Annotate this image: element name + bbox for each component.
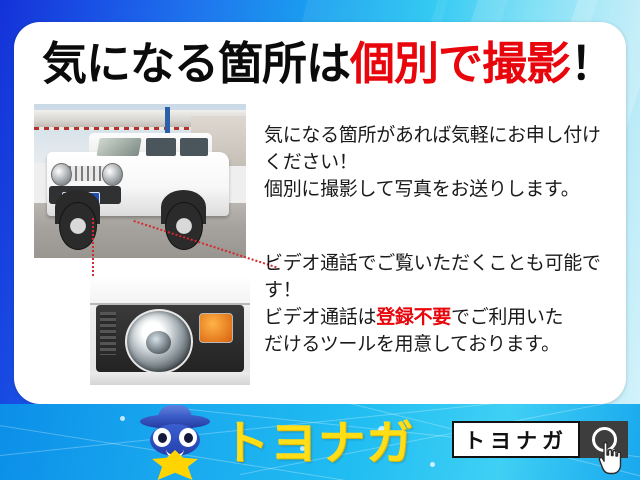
headline-exclamation: ！ bbox=[570, 38, 614, 89]
detail-headlight bbox=[125, 309, 193, 373]
mascot-body bbox=[152, 450, 198, 480]
photo-headlight-right bbox=[102, 163, 123, 187]
search-input[interactable]: トヨナガ bbox=[452, 421, 580, 458]
detail-turn-signal bbox=[199, 313, 233, 343]
para2-line3: ビデオ通話は登録不要でご利用いた bbox=[264, 304, 610, 331]
paragraph-availability: 気になる箇所があれば気軽にお申し付け ください！ 個別に撮影して写真をお送りしま… bbox=[264, 122, 610, 203]
para2-line4: だけるツールを用意しております。 bbox=[264, 331, 610, 358]
headlight-detail-photo bbox=[90, 277, 250, 385]
mascot-pupil-right bbox=[184, 433, 193, 443]
photo-door-window bbox=[146, 138, 176, 156]
mascot-pupil-left bbox=[158, 433, 167, 443]
detail-vent bbox=[100, 312, 116, 355]
photo-headlight-left bbox=[51, 163, 72, 187]
banner-dot bbox=[120, 416, 125, 421]
photo-rear-window bbox=[180, 138, 208, 156]
detail-headlight-projector bbox=[146, 331, 170, 354]
para2-line3-suffix: でご利用いた bbox=[451, 307, 563, 328]
mascot-character bbox=[138, 406, 212, 480]
search-input-value: トヨナガ bbox=[464, 425, 568, 455]
para2-line2: す！ bbox=[264, 277, 610, 304]
hand-cursor-icon bbox=[598, 441, 624, 475]
vehicle-exterior-photo bbox=[34, 104, 246, 258]
paragraph-videocall: ビデオ通話でご覧いただくことも可能で す！ ビデオ通話は登録不要でご利用いた だ… bbox=[264, 250, 610, 358]
detail-bumper bbox=[90, 372, 250, 385]
content-card: 気になる箇所は個別で撮影！ bbox=[14, 22, 626, 404]
banner-dot bbox=[430, 462, 435, 467]
para2-line3-prefix: ビデオ通話は bbox=[264, 307, 376, 328]
detail-hood bbox=[90, 277, 250, 305]
brand-logo-text: トヨナガ bbox=[222, 414, 414, 472]
promo-banner-image: 気になる箇所は個別で撮影！ bbox=[0, 0, 640, 480]
para1-line3: 個別に撮影して写真をお送りします。 bbox=[264, 176, 610, 203]
photo-windshield bbox=[96, 138, 142, 156]
page-title: 気になる箇所は個別で撮影！ bbox=[42, 38, 608, 90]
para1-line2: ください！ bbox=[264, 149, 610, 176]
headline-red-text: 個別で撮影 bbox=[350, 38, 570, 89]
headline-black-text: 気になる箇所は bbox=[42, 38, 350, 89]
para2-highlight-no-registration: 登録不要 bbox=[376, 307, 451, 328]
para2-line1: ビデオ通話でご覧いただくことも可能で bbox=[264, 250, 610, 277]
para1-line1: 気になる箇所があれば気軽にお申し付け bbox=[264, 122, 610, 149]
